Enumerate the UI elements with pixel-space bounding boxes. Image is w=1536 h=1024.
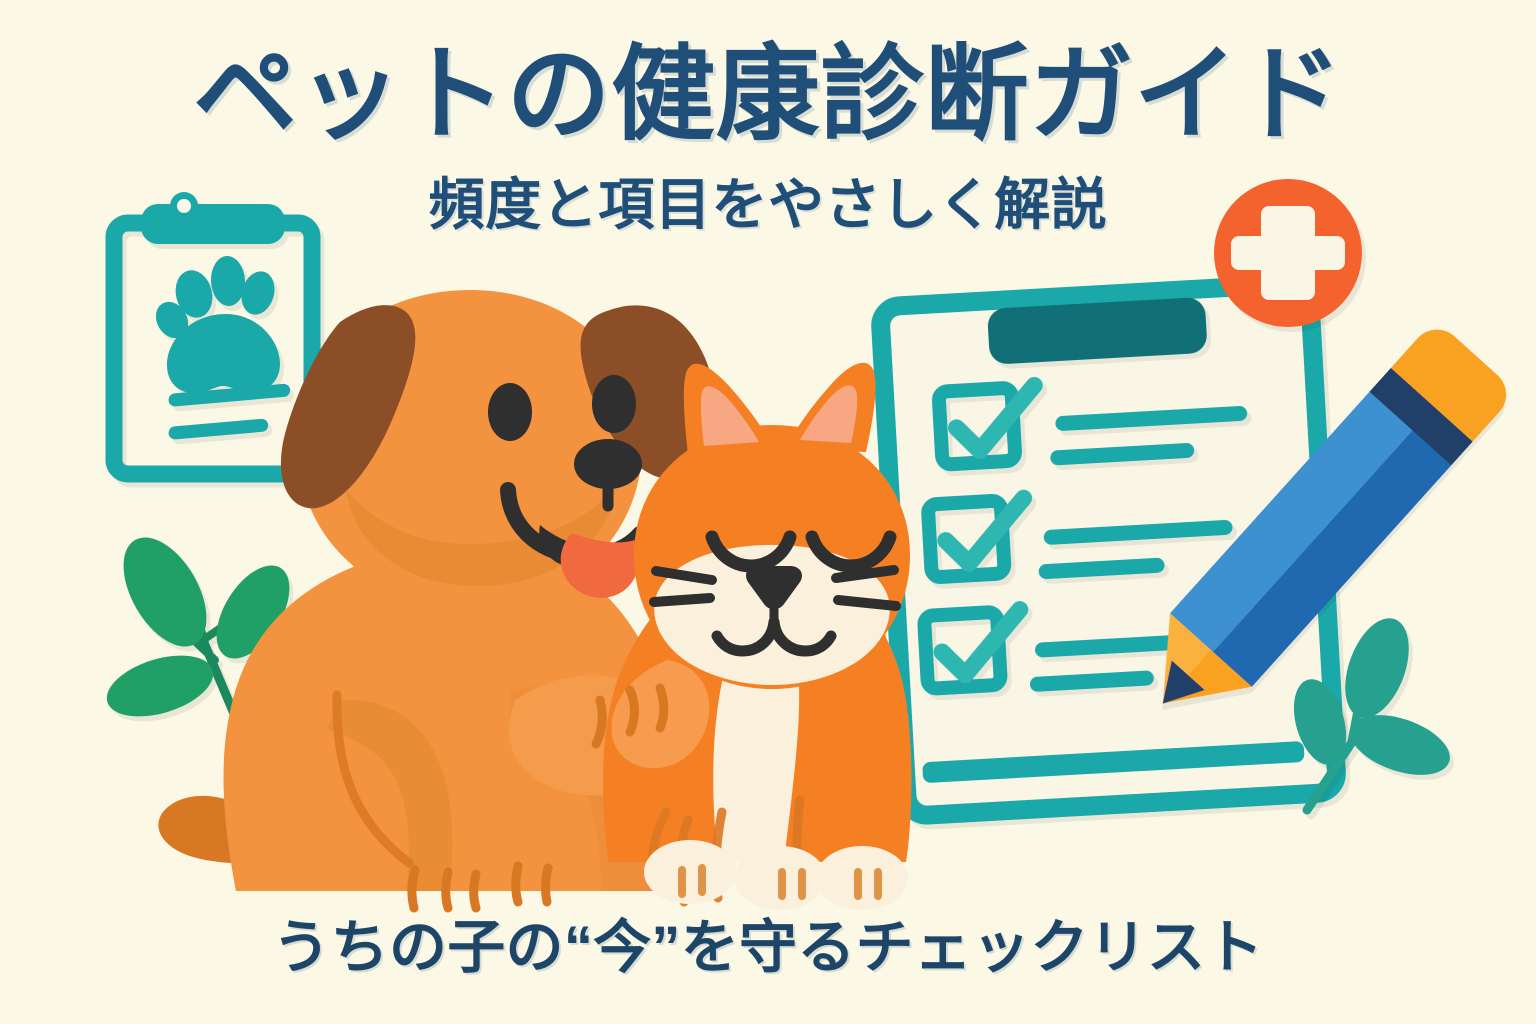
illustration-banner: ペットの健康診断ガイド 頻度と項目をやさしく解説 うちの子の“今”を守るチェック…	[0, 0, 1536, 1024]
grain-overlay	[0, 0, 1536, 1024]
illustration-canvas	[0, 0, 1536, 1024]
